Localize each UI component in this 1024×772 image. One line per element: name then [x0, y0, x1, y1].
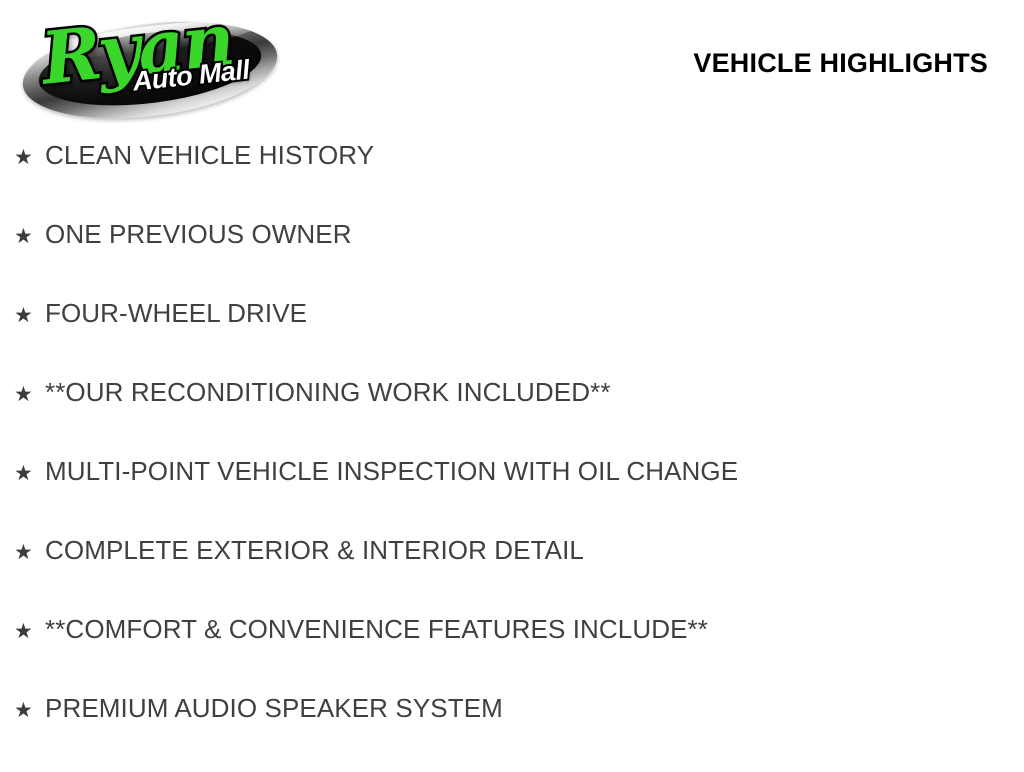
- list-item: ★ **OUR RECONDITIONING WORK INCLUDED**: [0, 377, 1024, 456]
- star-icon: ★: [14, 463, 45, 484]
- ryan-auto-mall-logo: Ryan Auto Mall: [16, 6, 286, 124]
- star-icon: ★: [14, 621, 45, 642]
- highlights-list: ★ CLEAN VEHICLE HISTORY ★ ONE PREVIOUS O…: [0, 140, 1024, 772]
- star-icon: ★: [14, 147, 45, 168]
- star-icon: ★: [14, 384, 45, 405]
- page-title: VEHICLE HIGHLIGHTS: [693, 48, 988, 79]
- list-item: ★ FOUR-WHEEL DRIVE: [0, 298, 1024, 377]
- list-item: ★ COMPLETE EXTERIOR & INTERIOR DETAIL: [0, 535, 1024, 614]
- star-icon: ★: [14, 305, 45, 326]
- list-item: ★ MULTI-POINT VEHICLE INSPECTION WITH OI…: [0, 456, 1024, 535]
- list-item: ★ **COMFORT & CONVENIENCE FEATURES INCLU…: [0, 614, 1024, 693]
- highlight-label: **COMFORT & CONVENIENCE FEATURES INCLUDE…: [45, 614, 708, 645]
- star-icon: ★: [14, 542, 45, 563]
- highlight-label: COMPLETE EXTERIOR & INTERIOR DETAIL: [45, 535, 584, 566]
- star-icon: ★: [14, 226, 45, 247]
- vehicle-highlights-page: Ryan Auto Mall VEHICLE HIGHLIGHTS ★ CLEA…: [0, 0, 1024, 768]
- highlight-label: MULTI-POINT VEHICLE INSPECTION WITH OIL …: [45, 456, 738, 487]
- page-header: Ryan Auto Mall VEHICLE HIGHLIGHTS: [0, 0, 1024, 132]
- star-icon: ★: [14, 700, 45, 721]
- highlight-label: PREMIUM AUDIO SPEAKER SYSTEM: [45, 693, 503, 724]
- highlight-label: FOUR-WHEEL DRIVE: [45, 298, 307, 329]
- list-item: ★ CLEAN VEHICLE HISTORY: [0, 140, 1024, 219]
- highlight-label: CLEAN VEHICLE HISTORY: [45, 140, 374, 171]
- list-item: ★ ONE PREVIOUS OWNER: [0, 219, 1024, 298]
- list-item: ★ PREMIUM AUDIO SPEAKER SYSTEM: [0, 693, 1024, 772]
- highlight-label: ONE PREVIOUS OWNER: [45, 219, 352, 250]
- highlight-label: **OUR RECONDITIONING WORK INCLUDED**: [45, 377, 611, 408]
- logo-wordmark: Ryan Auto Mall: [38, 0, 276, 112]
